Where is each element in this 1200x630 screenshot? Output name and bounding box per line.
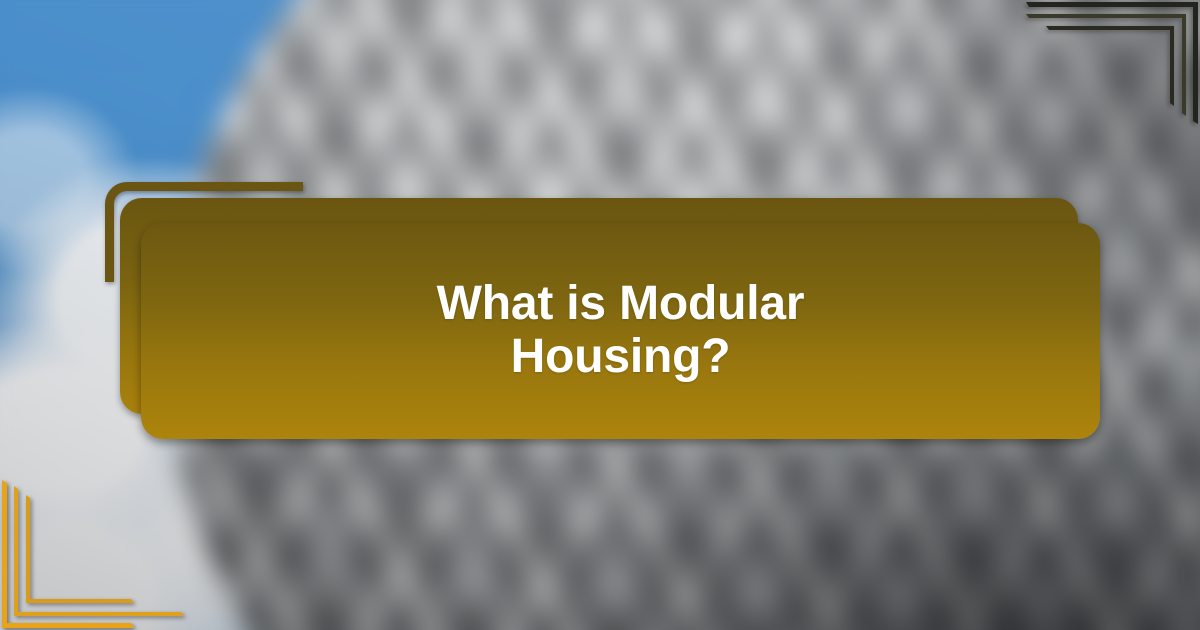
title-card-front: What is Modular Housing? xyxy=(141,223,1100,439)
corner-bracket-icon-top-right-3 xyxy=(1046,26,1174,106)
social-card-canvas: What is Modular Housing? xyxy=(0,0,1200,630)
page-title: What is Modular Housing? xyxy=(411,278,831,384)
corner-bracket-icon-bottom-left-3 xyxy=(26,495,134,603)
